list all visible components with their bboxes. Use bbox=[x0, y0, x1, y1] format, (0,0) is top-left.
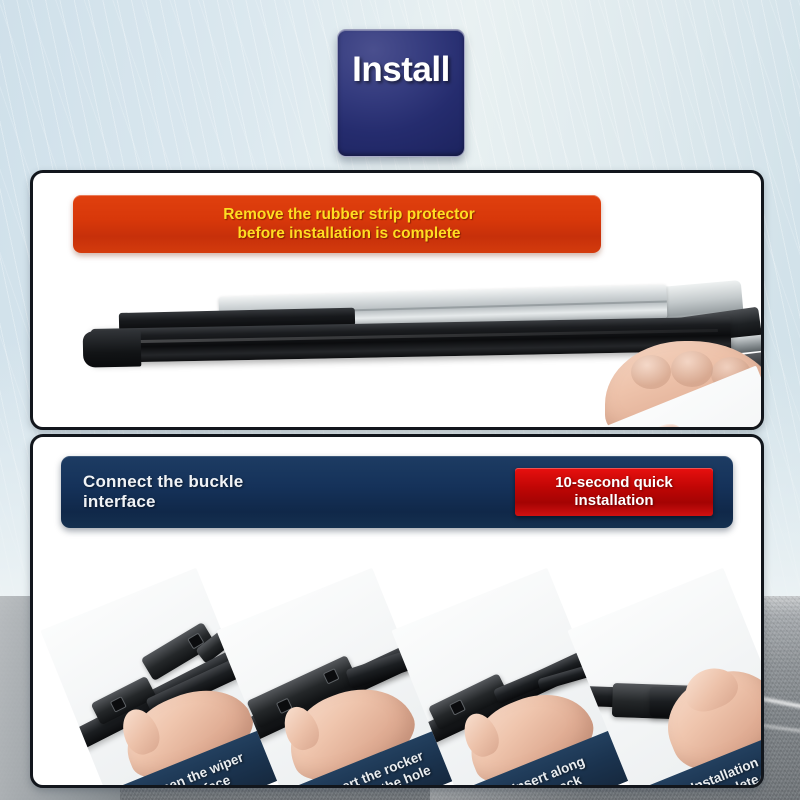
install-badge: Install bbox=[337, 29, 465, 157]
hand-pulling-protector bbox=[605, 341, 764, 430]
panel-remove-protector: Remove the rubber strip protector before… bbox=[30, 170, 764, 430]
warning-banner-text: Remove the rubber strip protector before… bbox=[73, 205, 601, 243]
knuckle-shape bbox=[631, 355, 671, 389]
panel-connect-buckle: Connect the buckle interface 10-second q… bbox=[30, 434, 764, 788]
buckle-title-line-2: interface bbox=[83, 492, 156, 511]
buckle-header: Connect the buckle interface 10-second q… bbox=[61, 456, 733, 528]
buckle-header-title: Connect the buckle interface bbox=[61, 472, 243, 512]
install-badge-label: Install bbox=[352, 50, 450, 90]
buckle-title-line-1: Connect the buckle bbox=[83, 472, 243, 491]
infographic-stage: Install bbox=[0, 0, 800, 800]
wiper-blade-end-cap bbox=[83, 330, 142, 367]
quick-badge-line-2: installation bbox=[574, 492, 653, 509]
warning-line-2: before installation is complete bbox=[237, 225, 460, 242]
knuckle-shape bbox=[671, 351, 713, 387]
quick-install-badge-text: 10-second quick installation bbox=[555, 474, 673, 510]
warning-banner: Remove the rubber strip protector before… bbox=[73, 195, 601, 253]
quick-badge-line-1: 10-second quick bbox=[555, 474, 673, 491]
installation-steps-row: Open the wiper interface Insert the rock… bbox=[47, 543, 741, 771]
quick-install-badge: 10-second quick installation bbox=[515, 468, 713, 516]
warning-line-1: Remove the rubber strip protector bbox=[223, 206, 475, 223]
